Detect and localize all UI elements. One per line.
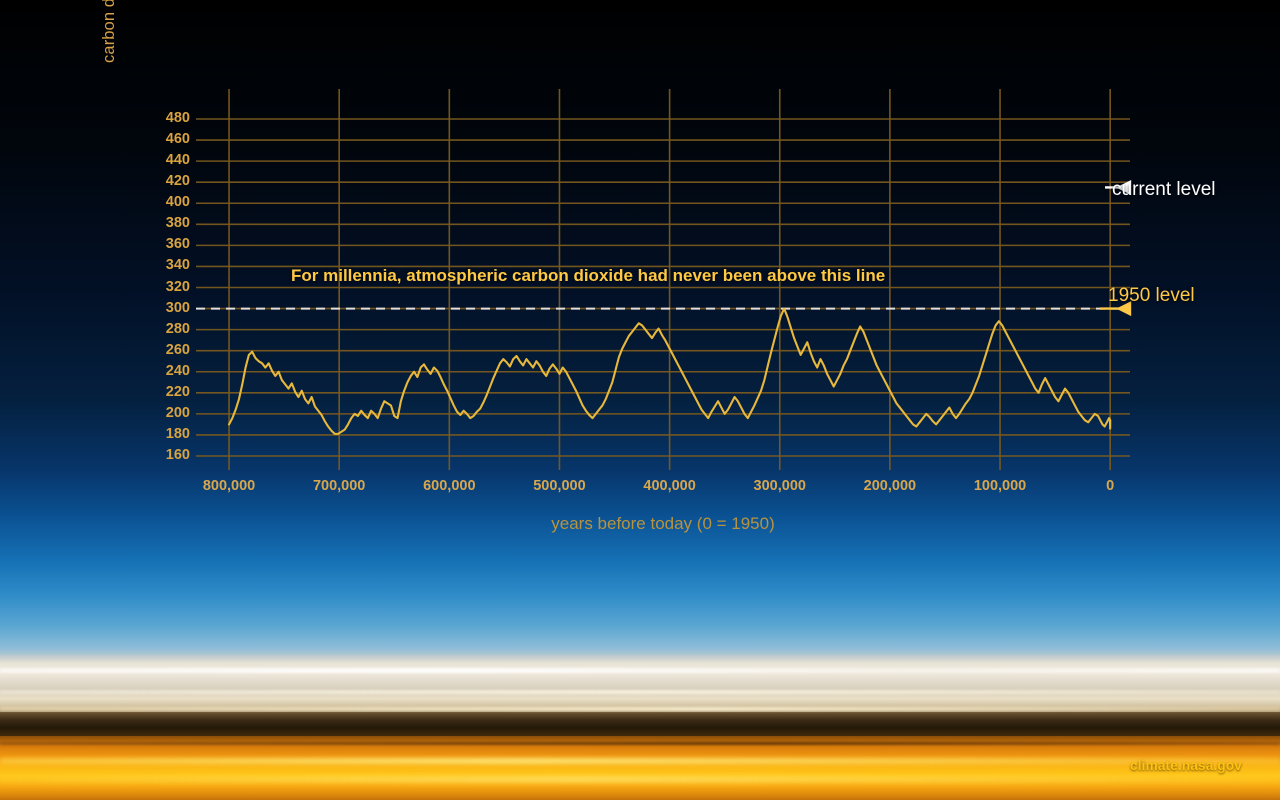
y-tick-label: 260 [138, 342, 190, 358]
1950-level-label: 1950 level [1108, 285, 1195, 307]
x-tick-label: 400,000 [643, 478, 695, 494]
x-axis-title: years before today (0 = 1950) [196, 514, 1130, 534]
x-tick-label: 300,000 [754, 478, 806, 494]
chart-area: carbon dioxide level (parts per million)… [0, 0, 1280, 800]
x-tick-label: 700,000 [313, 478, 365, 494]
y-tick-label: 200 [138, 405, 190, 421]
x-tick-label: 500,000 [533, 478, 585, 494]
y-tick-label: 340 [138, 257, 190, 273]
y-tick-label: 380 [138, 215, 190, 231]
nasa-watermark: climate.nasa.gov [1130, 758, 1242, 773]
x-tick-label: 600,000 [423, 478, 475, 494]
x-tick-label: 200,000 [864, 478, 916, 494]
y-tick-label: 460 [138, 131, 190, 147]
y-tick-label: 320 [138, 279, 190, 295]
x-tick-label: 100,000 [974, 478, 1026, 494]
current-level-label: current level [1112, 179, 1216, 201]
y-axis-title: carbon dioxide level (parts per million) [100, 0, 126, 112]
y-tick-label: 180 [138, 426, 190, 442]
y-tick-label: 280 [138, 321, 190, 337]
y-tick-label: 420 [138, 173, 190, 189]
chart-svg [0, 0, 1280, 800]
y-tick-label: 360 [138, 236, 190, 252]
y-tick-label: 400 [138, 194, 190, 210]
x-tick-label: 0 [1106, 478, 1114, 494]
millennia-note: For millennia, atmospheric carbon dioxid… [291, 266, 885, 286]
climate-co2-graph: carbon dioxide level (parts per million)… [0, 0, 1280, 800]
y-tick-label: 220 [138, 384, 190, 400]
y-tick-label: 160 [138, 447, 190, 463]
y-tick-label: 440 [138, 152, 190, 168]
y-tick-label: 480 [138, 110, 190, 126]
y-tick-label: 300 [138, 300, 190, 316]
y-tick-label: 240 [138, 363, 190, 379]
x-tick-label: 800,000 [203, 478, 255, 494]
